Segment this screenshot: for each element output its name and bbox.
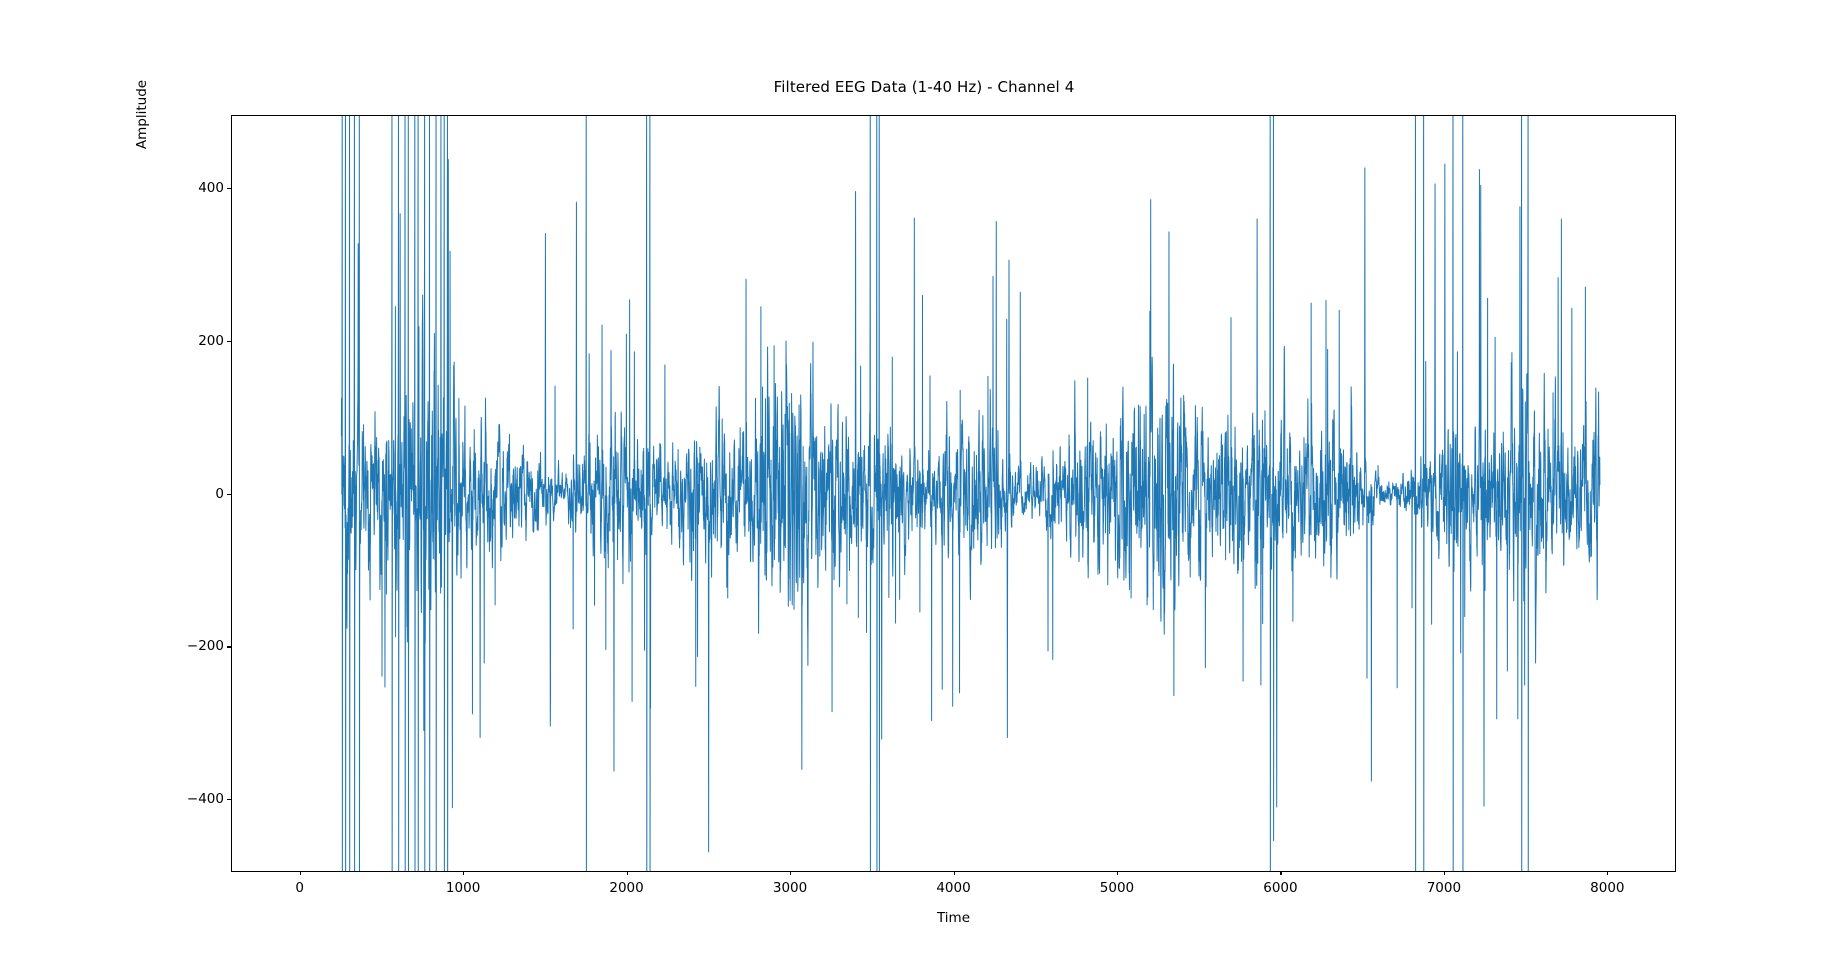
- y-tick-label: 0: [215, 486, 224, 502]
- y-tick-mark: [227, 646, 231, 647]
- x-tick-mark: [463, 871, 464, 875]
- eeg-trace-group: [341, 116, 1600, 871]
- x-tick-mark: [790, 871, 791, 875]
- y-tick-label: −200: [187, 638, 224, 654]
- x-tick-mark: [1607, 871, 1608, 875]
- y-tick-label: 400: [198, 180, 224, 196]
- y-tick-mark: [227, 494, 231, 495]
- x-tick-label: 3000: [773, 880, 807, 896]
- x-tick-mark: [1280, 871, 1281, 875]
- x-tick-label: 4000: [936, 880, 970, 896]
- y-tick-mark: [227, 188, 231, 189]
- x-tick-label: 6000: [1263, 880, 1297, 896]
- y-axis-label: Amplitude: [134, 0, 154, 493]
- eeg-signal-plot: [232, 116, 1675, 871]
- x-tick-label: 2000: [609, 880, 643, 896]
- x-tick-label: 1000: [446, 880, 480, 896]
- y-tick-mark: [227, 799, 231, 800]
- page-title: Filtered EEG Data (1-40 Hz) - Channel 4: [0, 78, 1848, 96]
- x-tick-mark: [1117, 871, 1118, 875]
- y-tick-label: 200: [198, 333, 224, 349]
- eeg-trace-line: [341, 116, 1600, 871]
- eeg-figure: Filtered EEG Data (1-40 Hz) - Channel 4 …: [0, 0, 1848, 977]
- x-tick-label: 7000: [1427, 880, 1461, 896]
- y-tick-label: −400: [187, 791, 224, 807]
- x-tick-mark: [627, 871, 628, 875]
- x-axis-label: Time: [231, 910, 1676, 926]
- x-tick-label: 5000: [1100, 880, 1134, 896]
- x-tick-mark: [300, 871, 301, 875]
- x-tick-label: 0: [295, 880, 304, 896]
- x-tick-label: 8000: [1590, 880, 1624, 896]
- plot-axes: [231, 115, 1676, 872]
- y-tick-mark: [227, 341, 231, 342]
- x-tick-mark: [1444, 871, 1445, 875]
- x-tick-mark: [954, 871, 955, 875]
